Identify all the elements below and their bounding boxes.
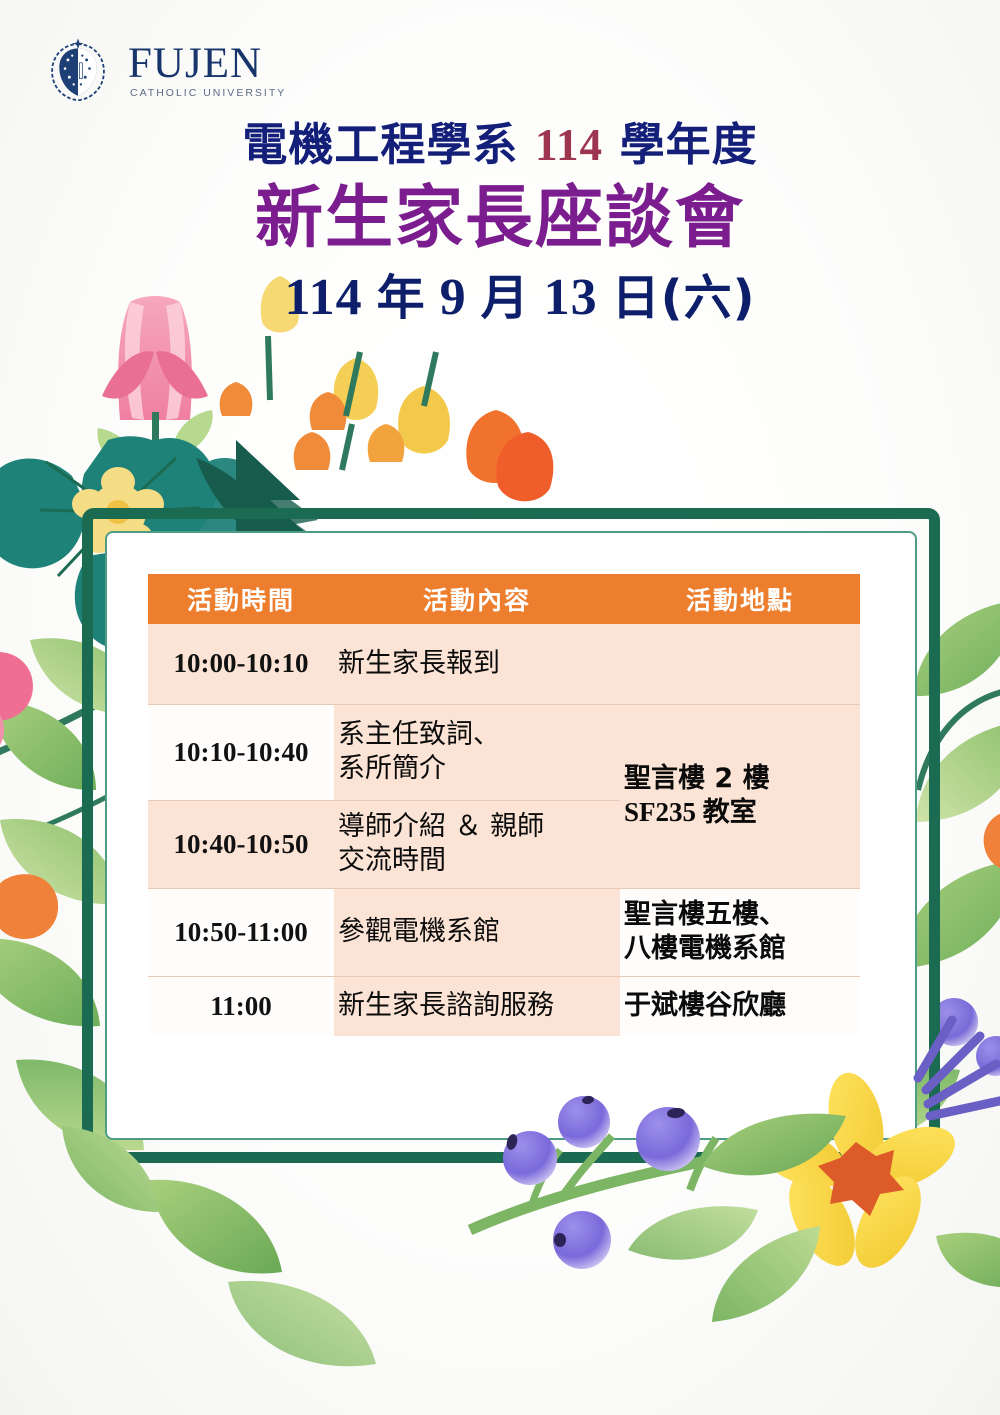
cell-activity: 系主任致詞、 系所簡介	[334, 704, 620, 800]
date-day-unit: 日(六)	[612, 270, 756, 326]
title-line1-prefix: 電機工程學系	[242, 118, 535, 171]
location-line1: 聖言樓 2 樓	[624, 762, 856, 796]
event-date: 114 年 9 月 13 日(六)	[0, 267, 1000, 329]
table-row: 11:00 新生家長諮詢服務 于斌樓谷欣廳	[148, 976, 860, 1036]
cell-time: 10:10-10:40	[148, 704, 334, 800]
table-header-row: 活動時間 活動內容 活動地點	[148, 574, 860, 624]
cell-time: 10:00-10:10	[148, 624, 334, 704]
cell-location: 于斌樓谷欣廳	[620, 976, 860, 1036]
purple-berry-icon	[930, 998, 1000, 1076]
cell-location	[620, 624, 860, 704]
title-line1-year: 114	[535, 120, 603, 170]
cell-activity: 導師介紹 ＆ 親師 交流時間	[334, 800, 620, 888]
title-block: 電機工程學系 114 學年度 新生家長座談會 114 年 9 月 13 日(六)	[0, 118, 1000, 329]
table-row: 10:10-10:40 系主任致詞、 系所簡介 聖言樓 2 樓 SF235 教室	[148, 704, 860, 800]
schedule-table-container: 活動時間 活動內容 活動地點 10:00-10:10 新生家長報到 10:10-…	[148, 574, 860, 1036]
cell-activity: 新生家長諮詢服務	[334, 976, 620, 1036]
orange-petal-icon	[984, 810, 1000, 871]
date-day: 13	[544, 269, 598, 326]
location-line2: SF235 教室	[624, 796, 856, 830]
pink-flower-edge-icon	[0, 652, 33, 760]
orange-petal-icon	[0, 874, 58, 939]
cell-activity: 參觀電機系館	[334, 888, 620, 976]
page-title-line1: 電機工程學系 114 學年度	[0, 118, 1000, 172]
pink-tulip-icon	[97, 296, 212, 522]
table-row: 10:00-10:10 新生家長報到	[148, 624, 860, 704]
location-line1: 聖言樓五樓、	[624, 898, 856, 932]
page-title-main: 新生家長座談會	[0, 176, 1000, 261]
activity-line2: 交流時間	[338, 844, 616, 878]
column-header-activity: 活動內容	[334, 574, 620, 624]
poster-canvas: FUJEN CATHOLIC UNIVERSITY 電機工程學系 114 學年度…	[0, 0, 1000, 1415]
date-month: 9	[440, 269, 467, 326]
date-year: 114	[284, 269, 362, 326]
date-year-unit: 年	[377, 270, 426, 326]
logo-subtitle: CATHOLIC UNIVERSITY	[128, 88, 286, 99]
activity-line2: 系所簡介	[338, 752, 616, 786]
location-line2: 八樓電機系館	[624, 932, 856, 966]
activity-line1: 系主任致詞、	[338, 718, 616, 752]
cell-time: 10:50-11:00	[148, 888, 334, 976]
cell-activity: 新生家長報到	[334, 624, 620, 704]
university-logo: FUJEN CATHOLIC UNIVERSITY	[42, 34, 286, 106]
table-row: 10:50-11:00 參觀電機系館 聖言樓五樓、 八樓電機系館	[148, 888, 860, 976]
logo-wordmark: FUJEN	[128, 42, 286, 85]
column-header-time: 活動時間	[148, 574, 334, 624]
activity-line1: 導師介紹 ＆ 親師	[338, 810, 616, 844]
cell-time: 11:00	[148, 976, 334, 1036]
cell-location: 聖言樓五樓、 八樓電機系館	[620, 888, 860, 976]
date-month-unit: 月	[481, 270, 530, 326]
column-header-location: 活動地點	[620, 574, 860, 624]
university-crest-icon	[42, 34, 114, 106]
cell-time: 10:40-10:50	[148, 800, 334, 888]
title-line1-suffix: 學年度	[603, 118, 758, 171]
cell-location: 聖言樓 2 樓 SF235 教室	[620, 704, 860, 888]
schedule-table: 活動時間 活動內容 活動地點 10:00-10:10 新生家長報到 10:10-…	[148, 574, 860, 1036]
